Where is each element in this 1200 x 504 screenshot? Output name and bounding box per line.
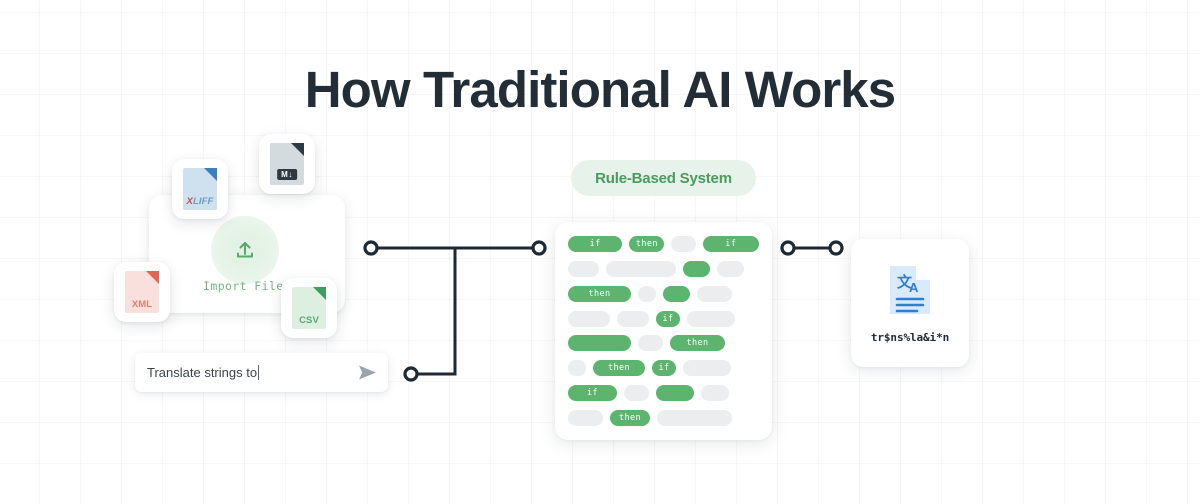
rule-token-blank: [568, 335, 631, 351]
rule-token-then: then: [629, 236, 664, 252]
rule-token-blank: [663, 286, 690, 302]
rule-token-blank: [617, 311, 649, 327]
rule-row: then: [568, 335, 759, 351]
prompt-input-value: Translate strings to: [147, 365, 257, 380]
send-arrow-icon[interactable]: [358, 364, 377, 381]
xliff-document-icon: XLIFF: [183, 168, 217, 210]
connector-prompt: [411, 248, 455, 374]
xliff-fold-corner: [204, 168, 217, 181]
canvas: How Traditional AI Works Import Files: [0, 0, 1200, 504]
md-fold-corner: [291, 143, 304, 156]
translate-document-icon: 文 A: [887, 263, 933, 322]
markdown-document-icon: M↓: [270, 143, 304, 185]
rule-token-if: if: [703, 236, 759, 252]
xml-fold-corner: [146, 271, 159, 284]
file-card-xml[interactable]: XML: [114, 262, 170, 322]
rule-token-then: then: [593, 360, 645, 376]
csv-label: CSV: [299, 315, 319, 326]
rule-token-blank: [697, 286, 732, 302]
rule-token-then: then: [568, 286, 631, 302]
rule-row: then: [568, 410, 759, 426]
rule-token-blank: [683, 261, 710, 277]
prompt-input-text[interactable]: Translate strings to: [147, 365, 358, 380]
rule-token-blank: [656, 385, 694, 401]
xml-document-icon: XML: [125, 271, 159, 313]
rule-row: if: [568, 385, 759, 401]
rule-row: ifthenif: [568, 236, 759, 252]
rule-token-blank: [683, 360, 731, 376]
rule-token-blank: [624, 385, 649, 401]
node-output-in: [830, 242, 842, 254]
rule-token-blank: [638, 286, 656, 302]
rule-token-then: then: [670, 335, 725, 351]
translation-output-label: tr$ns%la&i*n: [871, 331, 949, 344]
rule-token-blank: [606, 261, 676, 277]
rule-token-blank: [657, 410, 732, 426]
rule-token-blank: [568, 311, 610, 327]
rule-token-if: if: [568, 385, 617, 401]
rule-token-blank: [671, 236, 695, 252]
rules-panel: ifthenifthenifthenthenififthen: [555, 222, 772, 440]
rule-token-blank: [717, 261, 744, 277]
rule-row: if: [568, 311, 759, 327]
xml-label: XML: [132, 299, 152, 310]
svg-text:A: A: [909, 280, 919, 295]
rule-token-if: if: [652, 360, 676, 376]
text-caret: [258, 365, 259, 380]
translation-output-card[interactable]: 文 A tr$ns%la&i*n: [851, 239, 969, 367]
csv-fold-corner: [313, 287, 326, 300]
rule-row: [568, 261, 759, 277]
rule-token-blank: [687, 311, 735, 327]
rule-token-if: if: [656, 311, 680, 327]
file-card-xliff[interactable]: XLIFF: [172, 159, 228, 219]
rule-row: thenif: [568, 360, 759, 376]
rule-token-blank: [701, 385, 729, 401]
rule-token-then: then: [610, 410, 650, 426]
xliff-label: XLIFF: [187, 196, 214, 207]
node-input-left: [365, 242, 377, 254]
file-card-markdown[interactable]: M↓: [259, 134, 315, 194]
rule-token-blank: [568, 360, 586, 376]
rule-row: then: [568, 286, 759, 302]
csv-document-icon: CSV: [292, 287, 326, 329]
node-rules-in: [533, 242, 545, 254]
rule-token-if: if: [568, 236, 622, 252]
rule-token-blank: [568, 261, 599, 277]
file-card-csv[interactable]: CSV: [281, 278, 337, 338]
rule-token-blank: [568, 410, 603, 426]
prompt-input-field[interactable]: Translate strings to: [135, 353, 388, 392]
status-badge-rule-based-system: Rule-Based System: [571, 160, 756, 196]
node-prompt: [405, 368, 417, 380]
node-rules-out: [782, 242, 794, 254]
rule-token-blank: [638, 335, 663, 351]
md-badge: M↓: [277, 169, 297, 180]
upload-arrow-icon[interactable]: [211, 216, 279, 284]
